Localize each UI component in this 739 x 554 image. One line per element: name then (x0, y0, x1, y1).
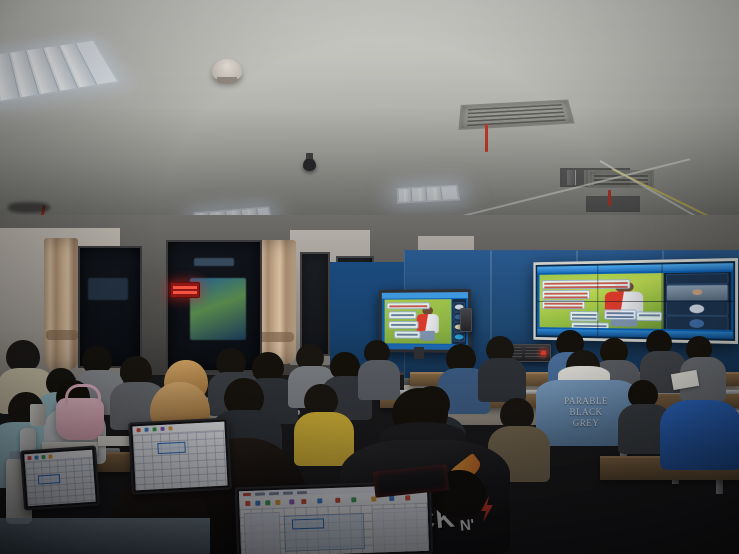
participant-avatar-tile-2[interactable] (666, 315, 728, 329)
display-stand (414, 347, 424, 359)
lecture-hall-photo: PARABLE BLACK GREY (0, 0, 739, 554)
document-grid[interactable] (133, 431, 228, 491)
secondary-titlebar (382, 292, 468, 299)
coffee-cup (30, 404, 46, 426)
desk-edge-front (0, 518, 210, 554)
window-center (166, 240, 262, 372)
laptop-lid (20, 445, 100, 510)
cell-selection (38, 474, 61, 485)
denim-text-line3: GREY (546, 418, 626, 429)
curtain-tieback (258, 332, 294, 342)
caption-line-2 (542, 290, 590, 299)
denim-text-line2: BLACK (546, 407, 626, 418)
participant-avatar-tile-1[interactable] (666, 301, 728, 316)
sidebar-panel (244, 512, 282, 554)
denim-text-line1: PARABLE (546, 396, 626, 407)
caption-line-4 (570, 311, 599, 321)
participant-video-tile[interactable] (666, 284, 728, 301)
handbag-handle (65, 384, 102, 405)
caption-line-8 (636, 311, 662, 321)
pink-handbag (56, 398, 104, 440)
cell-selection (292, 518, 324, 529)
emergency-exit-sign (170, 282, 200, 298)
caption-line-5 (604, 309, 636, 320)
caption-line-6 (571, 322, 609, 329)
caption-line-1 (542, 279, 630, 289)
curtain-tieback (46, 330, 78, 340)
window-curtain (256, 240, 296, 364)
window-right-a (300, 252, 330, 356)
video-wall-screen[interactable] (537, 263, 733, 339)
wall-speaker (460, 308, 472, 332)
right-panel (372, 507, 430, 554)
cell-selection (157, 442, 186, 454)
laptop-screen[interactable] (132, 422, 227, 491)
laptop-lid (128, 417, 232, 494)
hoodie-text-n: N' (459, 516, 475, 534)
paper-sheet (98, 436, 132, 446)
laptop-screen[interactable] (24, 450, 95, 507)
denim-jacket-text: PARABLE BLACK GREY (546, 396, 626, 429)
gallery-header (666, 273, 728, 284)
window-curtain (44, 238, 78, 370)
secondary-video-stage (385, 299, 452, 344)
